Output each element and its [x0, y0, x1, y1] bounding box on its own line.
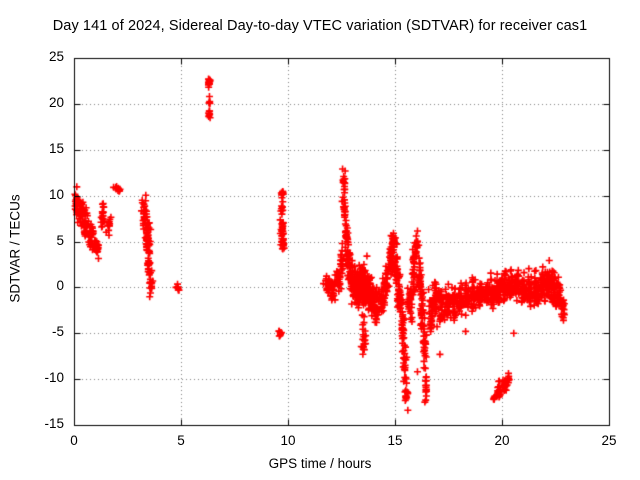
x-tick-label: 25 — [579, 433, 639, 448]
scatter-plot-canvas — [0, 0, 640, 480]
x-tick-label: 15 — [365, 433, 425, 448]
chart-figure: Day 141 of 2024, Sidereal Day-to-day VTE… — [0, 0, 640, 480]
y-tick-label: -10 — [2, 370, 64, 385]
x-tick-label: 5 — [151, 433, 211, 448]
y-tick-label: 15 — [2, 141, 64, 156]
x-tick-label: 10 — [258, 433, 318, 448]
y-tick-label: -5 — [2, 324, 64, 339]
y-tick-label: 20 — [2, 95, 64, 110]
x-axis-label: GPS time / hours — [269, 456, 372, 471]
x-tick-label: 0 — [44, 433, 104, 448]
y-tick-label: 0 — [2, 278, 64, 293]
y-tick-label: 5 — [2, 233, 64, 248]
y-tick-label: 10 — [2, 187, 64, 202]
chart-title: Day 141 of 2024, Sidereal Day-to-day VTE… — [53, 18, 588, 34]
y-tick-label: -15 — [2, 416, 64, 431]
y-tick-label: 25 — [2, 49, 64, 64]
x-tick-label: 20 — [472, 433, 532, 448]
